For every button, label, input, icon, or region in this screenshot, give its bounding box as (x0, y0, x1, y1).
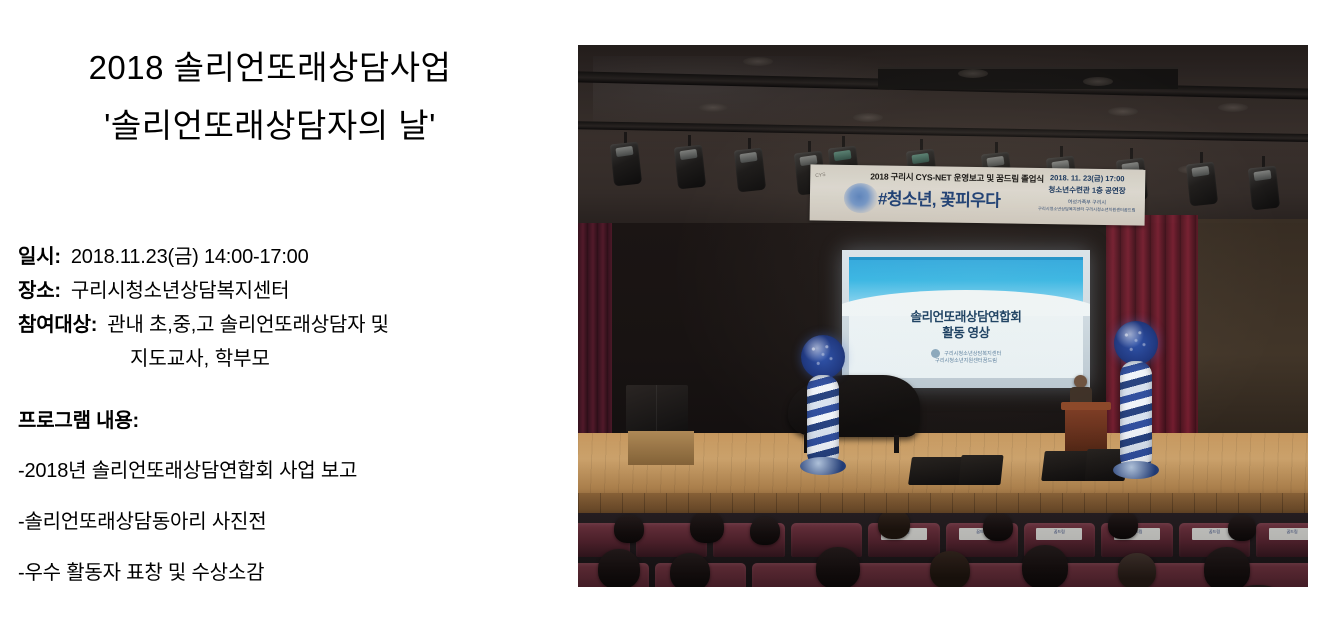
slide-footer: 구리시청소년상담복지센터 구리시청소년지원센터꿈드림 (849, 349, 1083, 365)
banner-date: 2018. 11. 23(금) 17:00 (1033, 172, 1141, 185)
ceiling-vent-icon (1083, 77, 1113, 86)
audience-head (1228, 515, 1256, 541)
slide-title-line2: 활동 영상 (849, 325, 1083, 341)
title-line-2: '솔리언또래상담자의 날' (0, 102, 540, 149)
ceiling-vent-icon (1108, 107, 1138, 116)
stage-monitor (958, 455, 1003, 485)
balloon-base (800, 457, 846, 475)
audience-head (983, 513, 1013, 541)
ceiling-vent-icon (698, 103, 728, 112)
info-row-date: 일시:2018.11.23(금) 14:00-17:00 (18, 240, 560, 274)
audience-head (598, 549, 640, 587)
stage-light-icon (736, 147, 764, 193)
slide-footer-line2: 구리시청소년지원센터꿈드림 (935, 358, 997, 364)
audience-head (670, 553, 710, 587)
program-item: -솔리언또래상담동아리 사진전 (18, 511, 560, 533)
stage-light-icon (612, 141, 640, 187)
info-row-place: 장소:구리시청소년상담복지센터 (18, 274, 560, 308)
poster-title: 2018 솔리언또래상담사업 '솔리언또래상담자의 날' (0, 44, 540, 149)
stage-monitor (908, 457, 966, 485)
slide-header-band (849, 257, 1083, 302)
event-banner: CYS 2018 구리시 CYS-NET 운영보고 및 꿈드림 졸업식 #청소년… (810, 164, 1146, 225)
balloon-stem (1120, 361, 1152, 471)
title-line-1: 2018 솔리언또래상담사업 (0, 44, 540, 91)
audience-head (690, 513, 724, 543)
audience-chair (849, 563, 940, 587)
slide-title: 솔리언또래상담연합회 활동 영상 (849, 309, 1083, 341)
banner-logo: CYS (815, 172, 826, 179)
info-label-date: 일시: (18, 246, 61, 268)
poster-text-column: 2018 솔리언또래상담사업 '솔리언또래상담자의 날' 일시:2018.11.… (0, 0, 560, 640)
info-label-audience: 참여대상: (18, 314, 97, 336)
audience-head (930, 551, 970, 587)
event-info-block: 일시:2018.11.23(금) 14:00-17:00 장소:구리시청소년상담… (18, 240, 560, 376)
chair-placard: 꿈드림 (1036, 528, 1082, 540)
audience-head (816, 547, 860, 587)
audience-head (1118, 553, 1156, 587)
program-item: -2018년 솔리언또래상담연합회 사업 보고 (18, 460, 560, 482)
audience-area: 꿈드림 꿈드림 꿈드림 꿈드림 꿈드림 꿈드림 (578, 513, 1308, 587)
audience-head (1204, 547, 1250, 587)
audience-head (614, 515, 644, 543)
projection-screen: 솔리언또래상담연합회 활동 영상 구리시청소년상담복지센터 구리시청소년지원센터… (842, 250, 1090, 388)
stage-light-icon (1188, 161, 1216, 207)
banner-detail-block: 2018. 11. 23(금) 17:00 청소년수련관 1층 공연장 여성가족… (1033, 172, 1142, 214)
info-row-audience: 참여대상:관내 초,중,고 솔리언또래상담자 및 (18, 308, 560, 342)
slide-title-line1: 솔리언또래상담연합회 (849, 309, 1083, 325)
audience-chair: 꿈드림 (1256, 523, 1308, 557)
balloon-globe (801, 335, 845, 379)
balloon-stem (807, 375, 839, 467)
info-value-date: 2018.11.23(금) 14:00-17:00 (71, 246, 309, 268)
pa-speaker-stack (626, 385, 688, 433)
audience-head (878, 513, 910, 539)
chair-placard: 꿈드림 (1269, 528, 1308, 540)
photo-scene: CYS 2018 구리시 CYS-NET 운영보고 및 꿈드림 졸업식 #청소년… (578, 45, 1308, 587)
audience-head (750, 517, 780, 545)
banner-main-text: #청소년, 꽃피우다 (878, 184, 1001, 211)
balloon-globe (1114, 321, 1158, 365)
balloon-column-left (800, 335, 846, 467)
banner-flower-icon (844, 183, 878, 214)
program-heading: 프로그램 내용: (18, 406, 139, 436)
ceiling-vent-icon (853, 113, 883, 122)
balloon-column-right (1113, 321, 1159, 471)
banner-top-text: 2018 구리시 CYS-NET 운영보고 및 꿈드림 졸업식 (870, 170, 1044, 185)
center-logo-icon (931, 349, 940, 358)
presentation-slide: 솔리언또래상담연합회 활동 영상 구리시청소년상담복지센터 구리시청소년지원센터… (849, 257, 1083, 378)
ceiling-vent-icon (1218, 103, 1248, 112)
truss-bridge (878, 67, 1178, 89)
banner-orgs-secondary: 구리시청소년상담복지센터 구리시청소년지원센터꿈드림 (1033, 206, 1141, 214)
program-item: -우수 활동자 표창 및 수상소감 (18, 562, 560, 584)
info-value-place: 구리시청소년상담복지센터 (71, 280, 289, 302)
info-value-audience: 관내 초,중,고 솔리언또래상담자 및 (107, 314, 389, 336)
audience-head (1022, 545, 1068, 587)
slide-footer-line1: 구리시청소년상담복지센터 (944, 351, 1001, 357)
program-list: -2018년 솔리언또래상담연합회 사업 보고 -솔리언또래상담동아리 사진전 … (18, 460, 560, 613)
banner-place: 청소년수련관 1층 공연장 (1033, 184, 1141, 197)
stage-curtain-left (578, 223, 612, 435)
stage-light-icon (676, 144, 704, 190)
side-table (628, 431, 694, 465)
balloon-base (1113, 461, 1159, 479)
info-row-audience-continued: 지도교사, 학부모 (18, 342, 560, 376)
ceiling-vent-icon (958, 69, 988, 78)
stage-light-icon (1250, 165, 1278, 211)
info-label-place: 장소: (18, 280, 61, 302)
audience-head (1108, 513, 1138, 539)
event-photo: CYS 2018 구리시 CYS-NET 운영보고 및 꿈드림 졸업식 #청소년… (578, 45, 1308, 587)
ceiling-vent-icon (743, 57, 773, 66)
